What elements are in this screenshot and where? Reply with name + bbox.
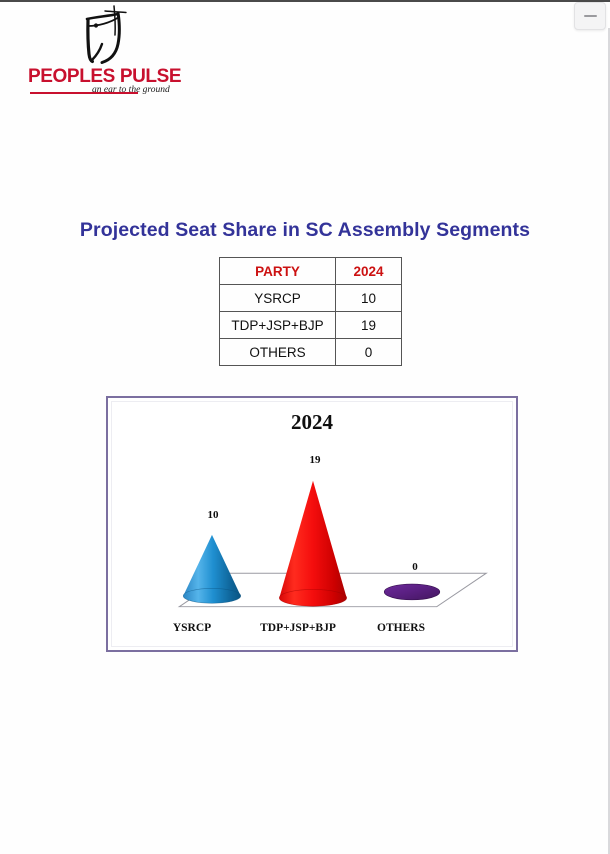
cone-ysrcp xyxy=(183,535,240,603)
category-label-tdp-jsp-bjp: TDP+JSP+BJP xyxy=(260,622,336,634)
column-header-party: PARTY xyxy=(220,258,336,285)
brand-tagline: an ear to the ground xyxy=(92,85,170,95)
brand-logo: PEOPLES PULSE an ear to the ground xyxy=(22,4,212,102)
minimize-button[interactable] xyxy=(574,2,606,30)
column-header-2024: 2024 xyxy=(336,258,402,285)
table-row: TDP+JSP+BJP 19 xyxy=(220,312,402,339)
cone-others xyxy=(384,584,439,600)
cone-tdp-jsp-bjp xyxy=(279,481,346,607)
category-label-ysrcp: YSRCP xyxy=(173,622,211,634)
table-row: YSRCP 10 xyxy=(220,285,402,312)
cell-value: 19 xyxy=(336,312,402,339)
cell-party: OTHERS xyxy=(220,339,336,366)
cone-chart-plot xyxy=(108,398,516,650)
chart-container: 2024 xyxy=(106,396,518,652)
page-title: Projected Seat Share in SC Assembly Segm… xyxy=(0,219,610,242)
cell-party: YSRCP xyxy=(220,285,336,312)
top-divider xyxy=(0,0,610,2)
data-label-tdp-jsp-bjp: 19 xyxy=(310,454,321,466)
cell-value: 0 xyxy=(336,339,402,366)
table-header-row: PARTY 2024 xyxy=(220,258,402,285)
table-row: OTHERS 0 xyxy=(220,339,402,366)
harp-figure-emblem-icon xyxy=(74,4,136,64)
category-label-others: OTHERS xyxy=(377,622,425,634)
minimize-icon xyxy=(584,15,597,17)
cell-value: 10 xyxy=(336,285,402,312)
cell-party: TDP+JSP+BJP xyxy=(220,312,336,339)
seat-share-table: PARTY 2024 YSRCP 10 TDP+JSP+BJP 19 OTHER… xyxy=(219,257,402,366)
data-label-ysrcp: 10 xyxy=(208,509,219,521)
data-label-others: 0 xyxy=(412,561,418,573)
document-page: PEOPLES PULSE an ear to the ground Proje… xyxy=(0,0,610,854)
emblem-dot xyxy=(94,23,98,27)
